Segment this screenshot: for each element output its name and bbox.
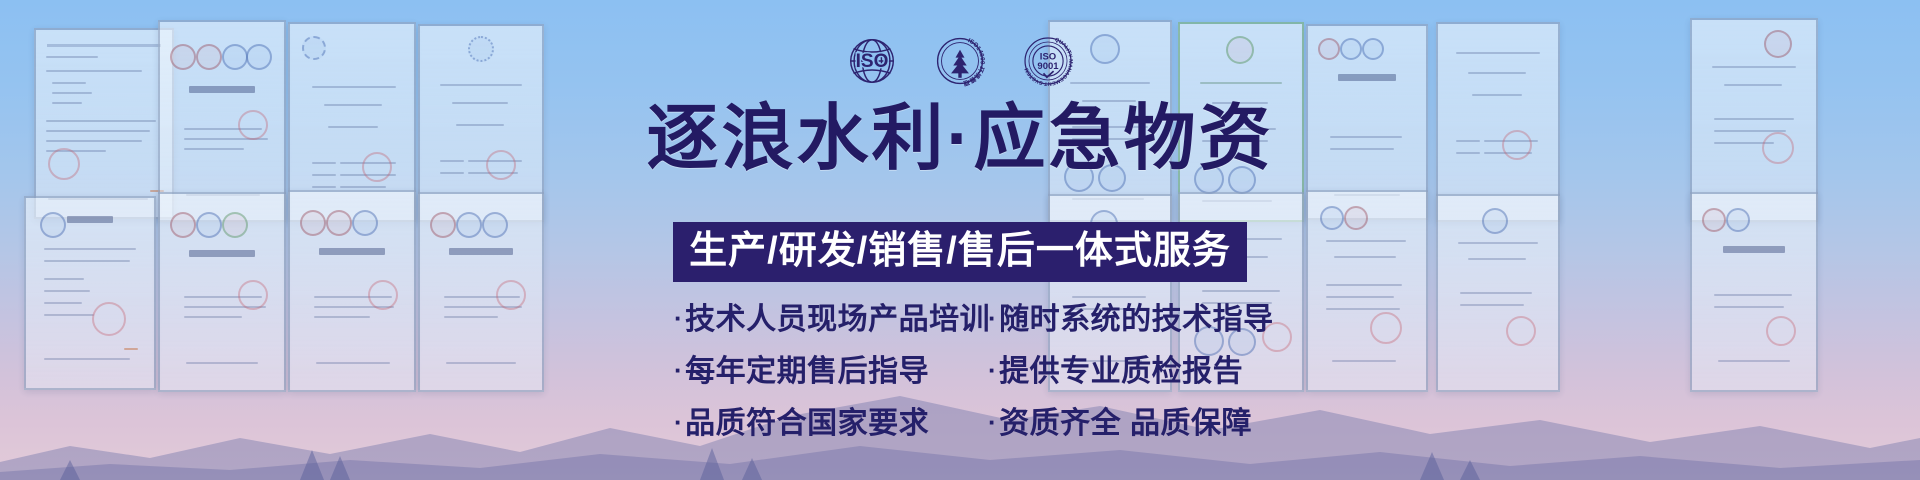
feature-bullet: ·技术人员现场产品培训 [674, 300, 974, 338]
svg-text:ISO14000 环境管理: ISO14000 环境管理 [962, 37, 986, 88]
iso-globe-logo: ISO [844, 33, 900, 89]
svg-text:9001: 9001 [1037, 61, 1059, 72]
feature-bullet: ·资质齐全 品质保障 [988, 404, 1246, 442]
feature-bullet-label: 每年定期售后指导 [685, 355, 929, 388]
feature-bullet: ·品质符合国家要求 [674, 404, 974, 442]
promotional-banner: ISO ISO14000 环境管理 [0, 0, 1920, 480]
feature-bullet-label: 技术人员现场产品培训 [685, 303, 990, 336]
bullet-dot-icon: · [988, 352, 997, 388]
bullet-dot-icon: · [988, 404, 997, 440]
feature-bullet-label: 品质符合国家要求 [685, 407, 929, 440]
bullet-dot-icon: · [988, 300, 997, 336]
feature-bullet: ·提供专业质检报告 [988, 352, 1246, 390]
iso-9001-seal-logo: QUALITY MANAGEMENT SYSTEM ISO 9001 [1020, 33, 1076, 89]
iso-14000-environment-logo: ISO14000 环境管理 [932, 33, 988, 89]
feature-bullet-label: 资质齐全 品质保障 [999, 407, 1252, 440]
feature-bullet: ·随时系统的技术指导 [988, 300, 1246, 338]
feature-bullet-label: 提供专业质检报告 [999, 355, 1243, 388]
feature-bullet-list: ·技术人员现场产品培训 ·随时系统的技术指导 ·每年定期售后指导 ·提供专业质检… [0, 300, 1920, 442]
subtitle-bar-wrapper: 生产/研发/销售/售后一体式服务 [0, 222, 1920, 282]
svg-text:ISO: ISO [856, 51, 889, 72]
feature-bullet: ·每年定期售后指导 [674, 352, 974, 390]
bullet-dot-icon: · [674, 352, 683, 388]
banner-headline: 逐浪水利·应急物资 [0, 96, 1920, 182]
banner-content: ISO ISO14000 环境管理 [0, 0, 1920, 480]
feature-bullet-label: 随时系统的技术指导 [999, 303, 1274, 336]
subtitle-bar: 生产/研发/销售/售后一体式服务 [673, 222, 1247, 282]
bullet-dot-icon: · [674, 300, 683, 336]
certification-logo-row: ISO ISO14000 环境管理 [0, 30, 1920, 92]
bullet-dot-icon: · [674, 404, 683, 440]
